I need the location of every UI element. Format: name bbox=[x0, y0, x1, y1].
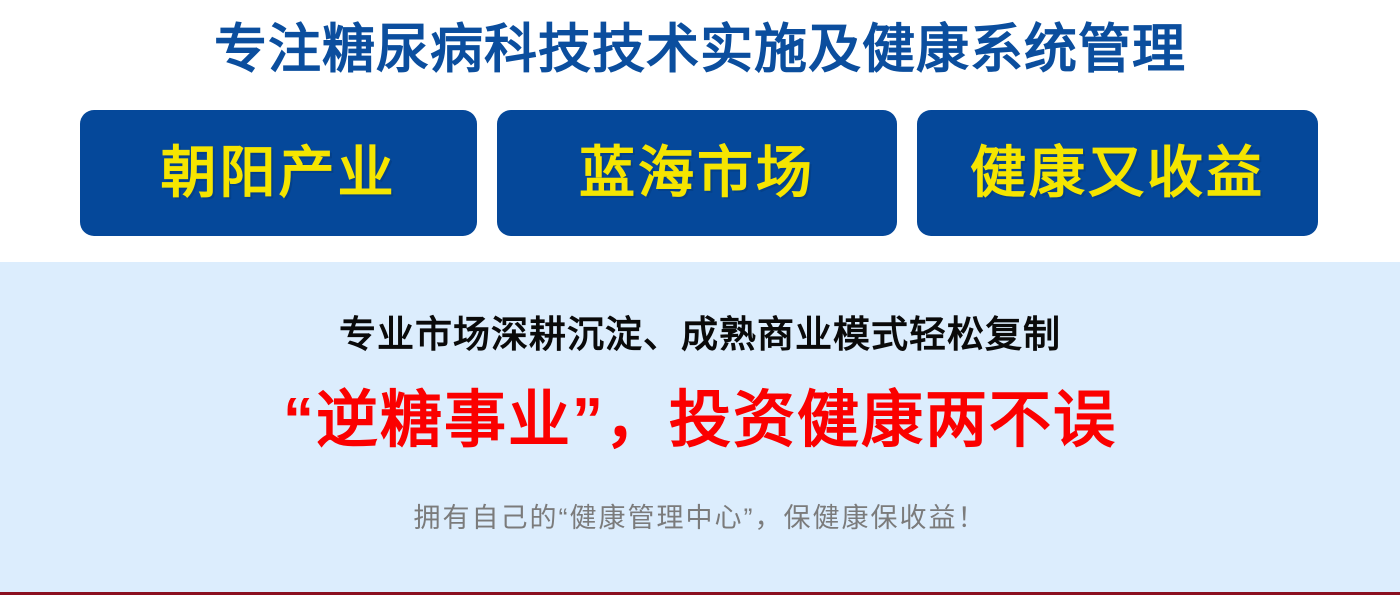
slogan-headline: “逆糖事业”，投资健康两不误 bbox=[0, 380, 1400, 462]
tagline-text: 拥有自己的“健康管理中心”，保健康保收益！ bbox=[0, 500, 1400, 536]
promo-poster: 专注糖尿病科技技术实施及健康系统管理 朝阳产业 蓝海市场 健康又收益 专业市场深… bbox=[0, 0, 1400, 597]
page-title: 专注糖尿病科技技术实施及健康系统管理 bbox=[0, 13, 1400, 87]
badge-label: 蓝海市场 bbox=[579, 143, 815, 203]
badge-label: 健康又收益 bbox=[970, 143, 1265, 203]
badge-chaoyang-chanye[interactable]: 朝阳产业 bbox=[80, 110, 477, 236]
badge-jiankang-you-shouyi[interactable]: 健康又收益 bbox=[917, 110, 1318, 236]
badge-row: 朝阳产业 蓝海市场 健康又收益 bbox=[80, 110, 1318, 236]
bottom-blue-section: 专业市场深耕沉淀、成熟商业模式轻松复制 “逆糖事业”，投资健康两不误 拥有自己的… bbox=[0, 262, 1400, 592]
badge-lanhai-shichang[interactable]: 蓝海市场 bbox=[497, 110, 897, 236]
badge-label: 朝阳产业 bbox=[161, 143, 397, 203]
section-subtitle: 专业市场深耕沉淀、成熟商业模式轻松复制 bbox=[0, 312, 1400, 358]
top-white-section: 专注糖尿病科技技术实施及健康系统管理 朝阳产业 蓝海市场 健康又收益 bbox=[0, 0, 1400, 262]
